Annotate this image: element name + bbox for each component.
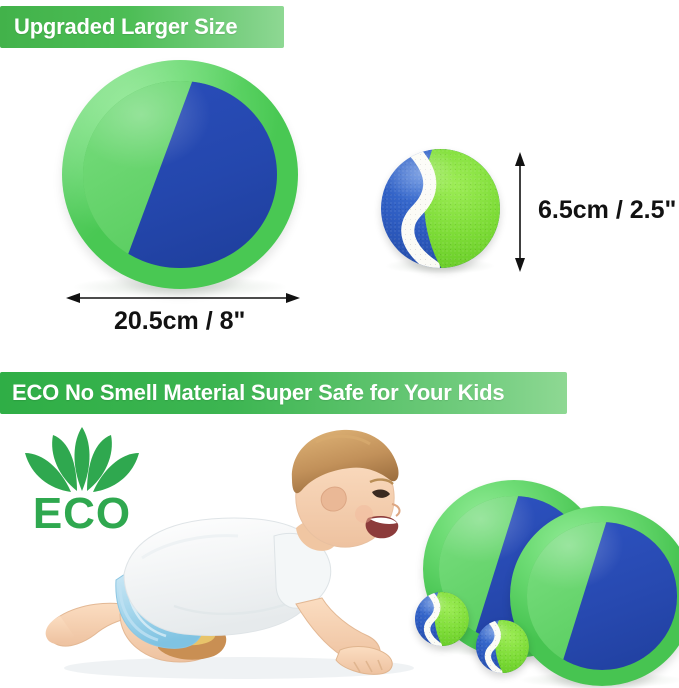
banner-eco-safe: ECO No Smell Material Super Safe for You…: [0, 372, 567, 414]
ball-highlight: [476, 620, 529, 673]
product-paddle-front: [510, 506, 679, 686]
baby-ear: [321, 487, 346, 511]
ball-highlight: [381, 149, 500, 268]
banner-upgraded-size-text: Upgraded Larger Size: [14, 14, 237, 40]
ball-sphere: [476, 620, 529, 673]
paddle-face: [83, 81, 277, 269]
banner-eco-safe-text: ECO No Smell Material Super Safe for You…: [12, 380, 504, 406]
product-ball-small-2: [476, 620, 529, 673]
paddle-face: [527, 522, 678, 670]
product-paddle-main: [62, 60, 298, 289]
paddle-face-highlight: [527, 522, 678, 670]
banner-upgraded-size: Upgraded Larger Size: [0, 6, 284, 48]
dimension-label-paddle: 20.5cm / 8": [114, 307, 245, 336]
product-ball-small-1: [415, 592, 469, 646]
product-cluster: [410, 478, 679, 683]
dimension-label-ball: 6.5cm / 2.5": [538, 196, 676, 225]
dimension-arrow-ball: [508, 152, 532, 272]
product-ball-main: [381, 149, 500, 268]
baby-head: [292, 430, 400, 547]
paddle-face-highlight: [83, 81, 277, 269]
ball-highlight: [415, 592, 469, 646]
baby-photo: [24, 418, 424, 680]
ball-sphere: [381, 149, 500, 268]
ball-sphere: [415, 592, 469, 646]
dimension-arrow-paddle: [66, 288, 300, 308]
